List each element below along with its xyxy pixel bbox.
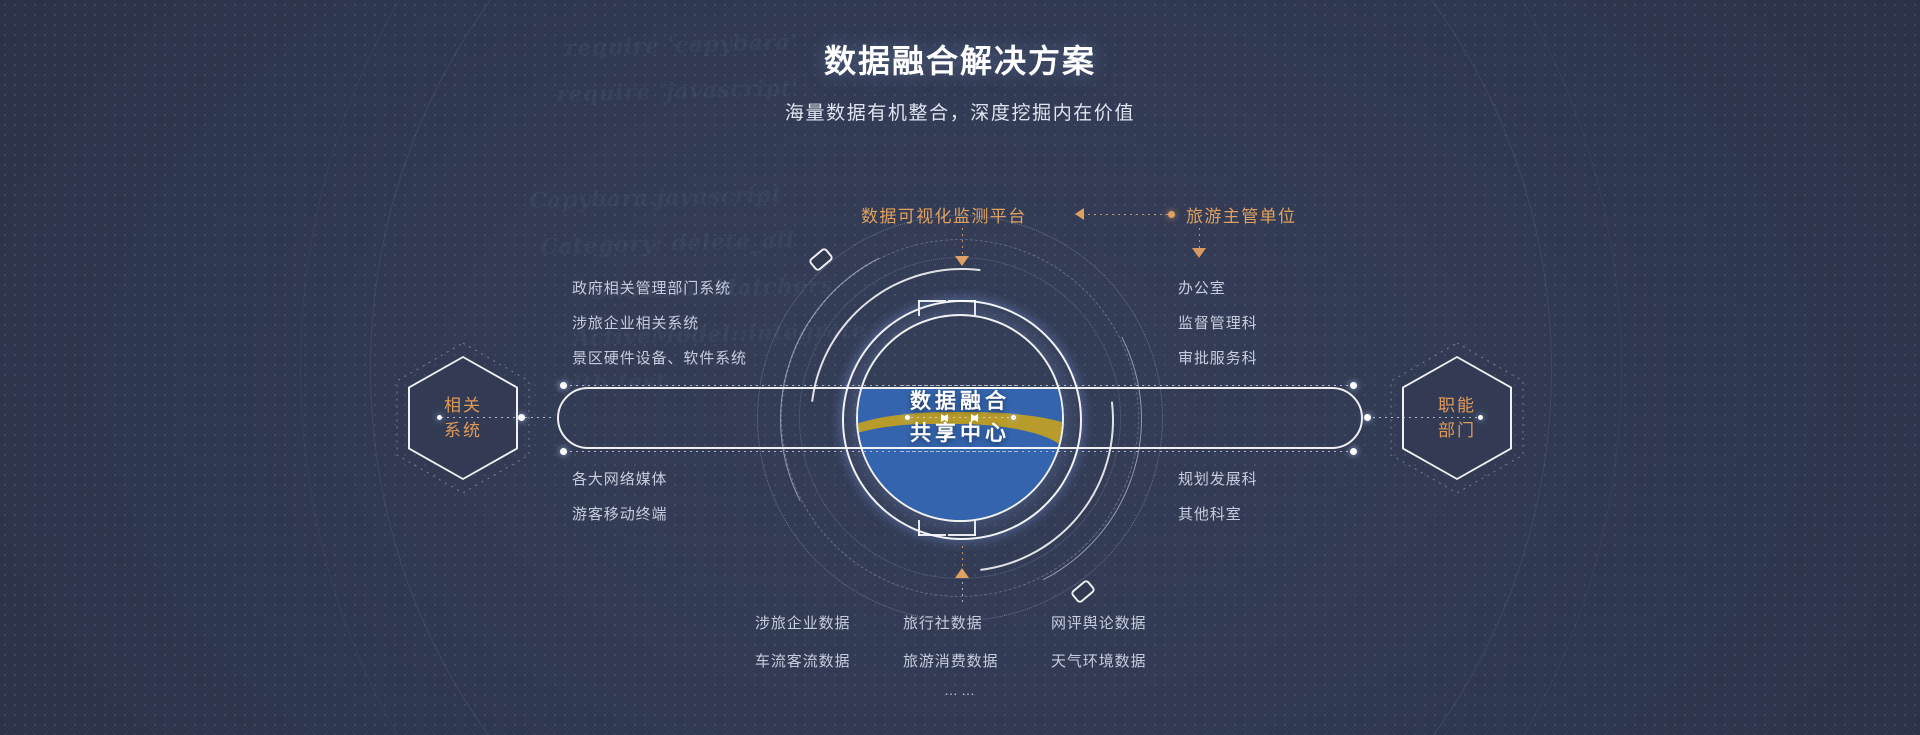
- header: 数据融合解决方案 海量数据有机整合，深度挖掘内在价值: [0, 36, 1920, 125]
- source-label-0[interactable]: 政府相关管理部门系统: [572, 277, 731, 298]
- page-title: 数据融合解决方案: [0, 36, 1920, 82]
- dept-label-4[interactable]: 其他科室: [1178, 503, 1242, 524]
- tick-top-left-h: [918, 300, 946, 302]
- hexagon-right-line2: 部门: [1402, 418, 1512, 443]
- node-left-lower: [560, 448, 567, 455]
- bottom-data-0[interactable]: 涉旅企业数据: [755, 612, 850, 633]
- dept-label-2[interactable]: 审批服务科: [1178, 347, 1258, 368]
- bottom-data-1[interactable]: 旅行社数据: [903, 612, 983, 633]
- tick-bottom-right-h: [948, 534, 976, 536]
- page-subtitle: 海量数据有机整合，深度挖掘内在价值: [0, 98, 1920, 125]
- hexagon-functional-departments[interactable]: 职能 部门: [1402, 356, 1512, 480]
- connector-bottom-stem: [962, 582, 963, 606]
- arrow-right-2-icon: [971, 414, 978, 422]
- source-label-2[interactable]: 景区硬件设备、软件系统: [572, 347, 747, 368]
- bottom-data-4[interactable]: 旅游消费数据: [903, 650, 998, 671]
- arrow-down-icon-right: [1192, 248, 1206, 258]
- source-label-4[interactable]: 游客移动终端: [572, 503, 667, 524]
- hexagon-left-line1: 相关: [408, 393, 518, 418]
- bottom-data-5[interactable]: 天气环境数据: [1051, 650, 1146, 671]
- node-left-hex: [437, 415, 442, 420]
- tick-top-left: [918, 300, 920, 316]
- connector-right-spine: [1367, 417, 1479, 418]
- tick-top-right: [974, 300, 976, 316]
- hexagon-left-label: 相关 系统: [408, 393, 518, 443]
- connector-authority-down: [1199, 228, 1200, 250]
- connector-bottom-up: [962, 546, 963, 568]
- hexagon-related-systems[interactable]: 相关 系统: [408, 356, 518, 480]
- dept-label-3[interactable]: 规划发展科: [1178, 468, 1258, 489]
- tick-bottom-left-h: [918, 534, 946, 536]
- hexagon-left-line2: 系统: [408, 418, 518, 443]
- source-label-3[interactable]: 各大网络媒体: [572, 468, 667, 489]
- bottom-data-3[interactable]: 车流客流数据: [755, 650, 850, 671]
- node-left-spine: [518, 414, 525, 421]
- connector-left-spine: [441, 417, 553, 418]
- hexagon-right-line1: 职能: [1402, 393, 1512, 418]
- node-left-upper: [560, 382, 567, 389]
- dept-label-1[interactable]: 监督管理科: [1178, 312, 1258, 333]
- connector-right-upper-rail: [902, 385, 1352, 386]
- node-right-lower: [1350, 448, 1357, 455]
- arrow-up-icon: [955, 568, 969, 578]
- arrow-right-1-icon: [941, 414, 948, 422]
- node-right-upper: [1350, 382, 1357, 389]
- hexagon-right-label: 职能 部门: [1402, 393, 1512, 443]
- bottom-data-2[interactable]: 网评舆论数据: [1051, 612, 1146, 633]
- tick-top-right-h: [948, 300, 976, 302]
- source-label-1[interactable]: 涉旅企业相关系统: [572, 312, 699, 333]
- label-tourism-authority[interactable]: 旅游主管单位: [1186, 202, 1296, 227]
- connector-right-lower-rail: [902, 451, 1352, 452]
- node-right-hex: [1478, 415, 1483, 420]
- node-right-inner: [905, 415, 910, 420]
- infographic-canvas: require 'capybara' require 'javascript' …: [0, 0, 1920, 735]
- bottom-data-ellipsis: ……: [944, 682, 978, 698]
- dept-label-0[interactable]: 办公室: [1178, 277, 1226, 298]
- node-right-spine: [1364, 414, 1371, 421]
